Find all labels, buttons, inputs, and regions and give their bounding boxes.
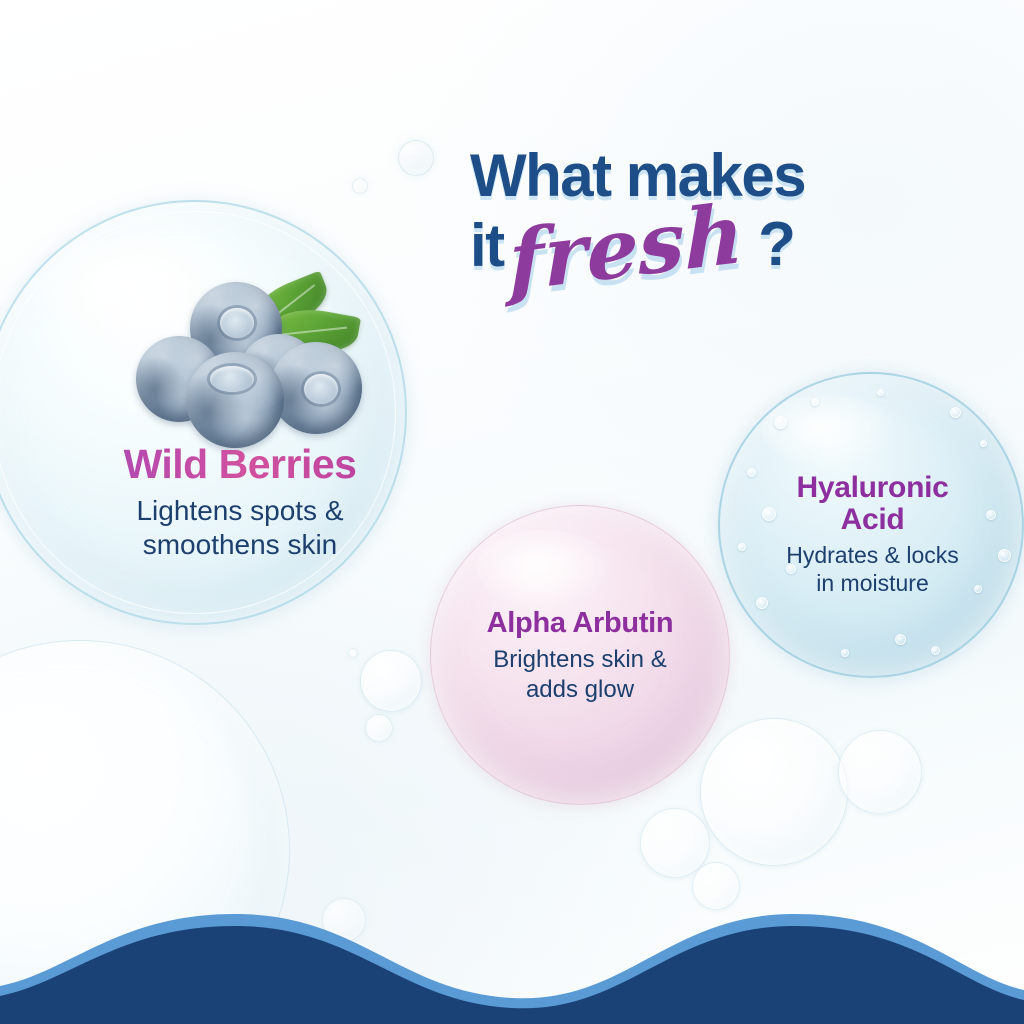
ingredient-title: Alpha Arbutin xyxy=(420,608,740,638)
ingredient-description-line: in moisture xyxy=(745,569,1000,597)
headline: What makes it fresh ? xyxy=(470,146,940,276)
headline-line-2: it fresh ? xyxy=(470,214,940,276)
ingredient-description-line: Hydrates & locks xyxy=(745,541,1000,569)
ingredient-description-line: adds glow xyxy=(420,675,740,704)
decor-bubble-top-tiny xyxy=(352,178,368,194)
wave-dark-body xyxy=(0,926,1024,1024)
promo-canvas: What makes it fresh ? Wild Berries Light… xyxy=(0,0,1024,1024)
water-droplet xyxy=(756,597,768,609)
ingredient-alpha-arbutin: Alpha Arbutin Brightens skin & adds glow xyxy=(420,608,740,704)
water-droplet xyxy=(980,440,987,447)
decor-bubble-right-upper xyxy=(348,648,358,658)
decor-bubble-bottom-right-mid xyxy=(838,730,922,814)
water-droplet xyxy=(811,398,819,406)
ingredient-title: Hyaluronic Acid xyxy=(745,472,1000,535)
ingredient-hyaluronic-acid: Hyaluronic Acid Hydrates & locks in mois… xyxy=(745,472,1000,597)
headline-word-it: it xyxy=(470,216,504,276)
water-droplet xyxy=(841,649,849,657)
headline-question-mark: ? xyxy=(758,214,796,276)
ingredient-description: Hydrates & locks in moisture xyxy=(745,541,1000,597)
decor-bubble-mid-left-2 xyxy=(365,714,393,742)
decor-bubble-top-small xyxy=(398,140,434,176)
blueberry-cluster-image xyxy=(130,282,362,450)
decor-bubble-mid-left xyxy=(360,650,422,712)
blueberry xyxy=(270,342,362,434)
ingredient-title: Wild Berries xyxy=(30,443,450,486)
ingredient-description-line: Brightens skin & xyxy=(420,645,740,674)
ingredient-title-line: Hyaluronic xyxy=(745,472,1000,504)
headline-script-fresh: fresh xyxy=(508,200,744,296)
ingredient-description: Brightens skin & adds glow xyxy=(420,645,740,704)
water-droplet xyxy=(931,646,940,655)
decor-bubble-bottom-right-large xyxy=(700,718,848,866)
ingredient-wild-berries: Wild Berries Lightens spots & smoothens … xyxy=(30,443,450,562)
blueberry xyxy=(186,352,284,448)
ingredient-description: Lightens spots & smoothens skin xyxy=(30,494,450,562)
ingredient-description-line: Lightens spots & xyxy=(30,494,450,528)
ingredient-title-line: Acid xyxy=(745,504,1000,536)
water-droplet xyxy=(895,634,906,645)
water-droplet xyxy=(877,389,884,396)
bubble-highlight xyxy=(762,395,895,467)
bottom-wave-banner xyxy=(0,894,1024,1024)
water-droplet xyxy=(950,407,961,418)
ingredient-description-line: smoothens skin xyxy=(30,528,450,562)
